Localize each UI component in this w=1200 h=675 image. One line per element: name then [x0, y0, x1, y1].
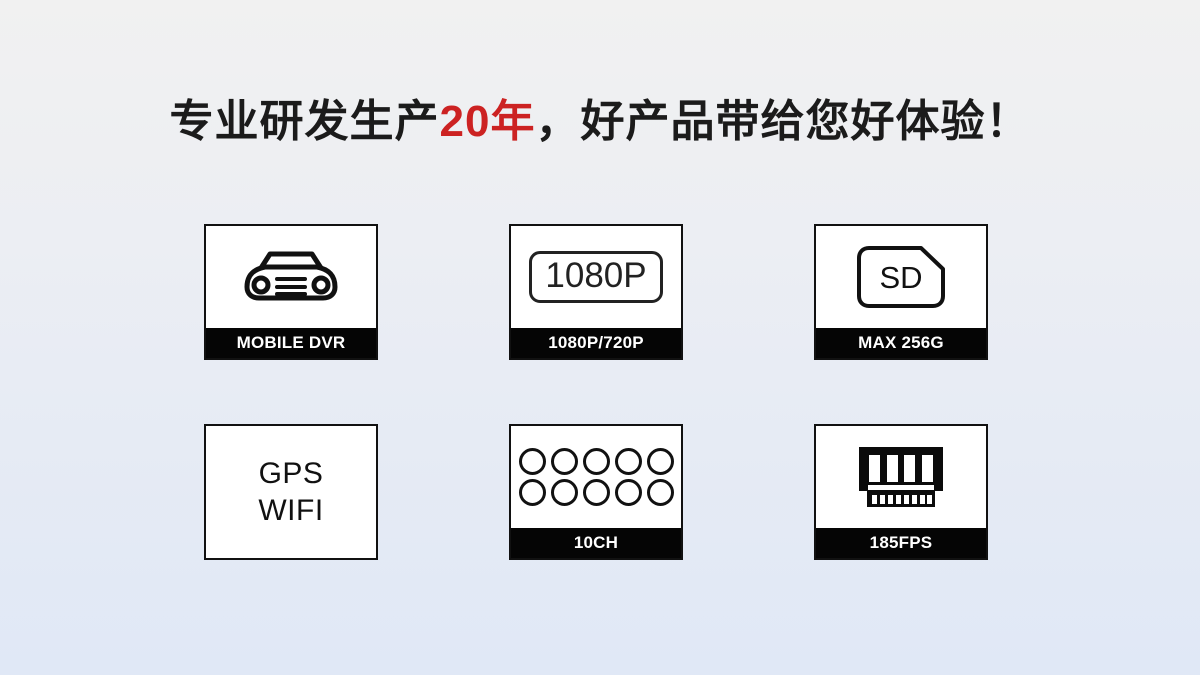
- feature-card-resolution[interactable]: 1080P 1080P/720P: [509, 224, 683, 360]
- sd-card-text: SD: [879, 260, 922, 295]
- wifi-label: WIFI: [258, 492, 323, 529]
- channel-circle: [519, 448, 546, 475]
- feature-card-sd-storage[interactable]: SD MAX 256G: [814, 224, 988, 360]
- channel-circle: [583, 479, 610, 506]
- card-label-channels: 10CH: [511, 528, 681, 558]
- headline-accent: 20年: [440, 97, 536, 146]
- feature-card-channels[interactable]: 10CH: [509, 424, 683, 560]
- memory-module-icon: [855, 443, 947, 511]
- ten-circles-icon: [519, 448, 674, 506]
- channel-circle: [583, 448, 610, 475]
- channel-circle: [647, 448, 674, 475]
- card-label-framerate: 185FPS: [816, 528, 986, 558]
- resolution-badge-icon: 1080P: [529, 251, 662, 304]
- channel-circle: [519, 479, 546, 506]
- card-artwork: GPS WIFI: [206, 426, 376, 558]
- card-artwork: [206, 226, 376, 328]
- gps-label: GPS: [259, 455, 324, 492]
- channel-circle: [647, 479, 674, 506]
- car-front-icon: [237, 246, 345, 308]
- feature-card-mobile-dvr[interactable]: MOBILE DVR: [204, 224, 378, 360]
- channel-circle: [551, 479, 578, 506]
- card-label-mobile-dvr: MOBILE DVR: [206, 328, 376, 358]
- feature-card-gps-wifi[interactable]: GPS WIFI: [204, 424, 378, 560]
- card-artwork: SD: [816, 226, 986, 328]
- card-label-resolution: 1080P/720P: [511, 328, 681, 358]
- card-artwork: [511, 426, 681, 528]
- sd-card-icon: SD: [851, 244, 951, 310]
- feature-card-grid: MOBILE DVR 1080P 1080P/720P SD MAX 256G: [204, 224, 988, 560]
- page-title: 专业研发生产20年，好产品带给您好体验！: [0, 98, 1200, 146]
- slide-canvas: 专业研发生产20年，好产品带给您好体验！: [0, 0, 1200, 675]
- card-artwork: 1080P: [511, 226, 681, 328]
- headline-suffix: ，好产品带给您好体验！: [535, 97, 1030, 146]
- feature-card-framerate[interactable]: 185FPS: [814, 424, 988, 560]
- channel-circle: [615, 448, 642, 475]
- headline-prefix: 专业研发生产: [170, 97, 440, 146]
- channel-circle: [615, 479, 642, 506]
- card-label-sd-storage: MAX 256G: [816, 328, 986, 358]
- card-artwork: [816, 426, 986, 528]
- channel-circle: [551, 448, 578, 475]
